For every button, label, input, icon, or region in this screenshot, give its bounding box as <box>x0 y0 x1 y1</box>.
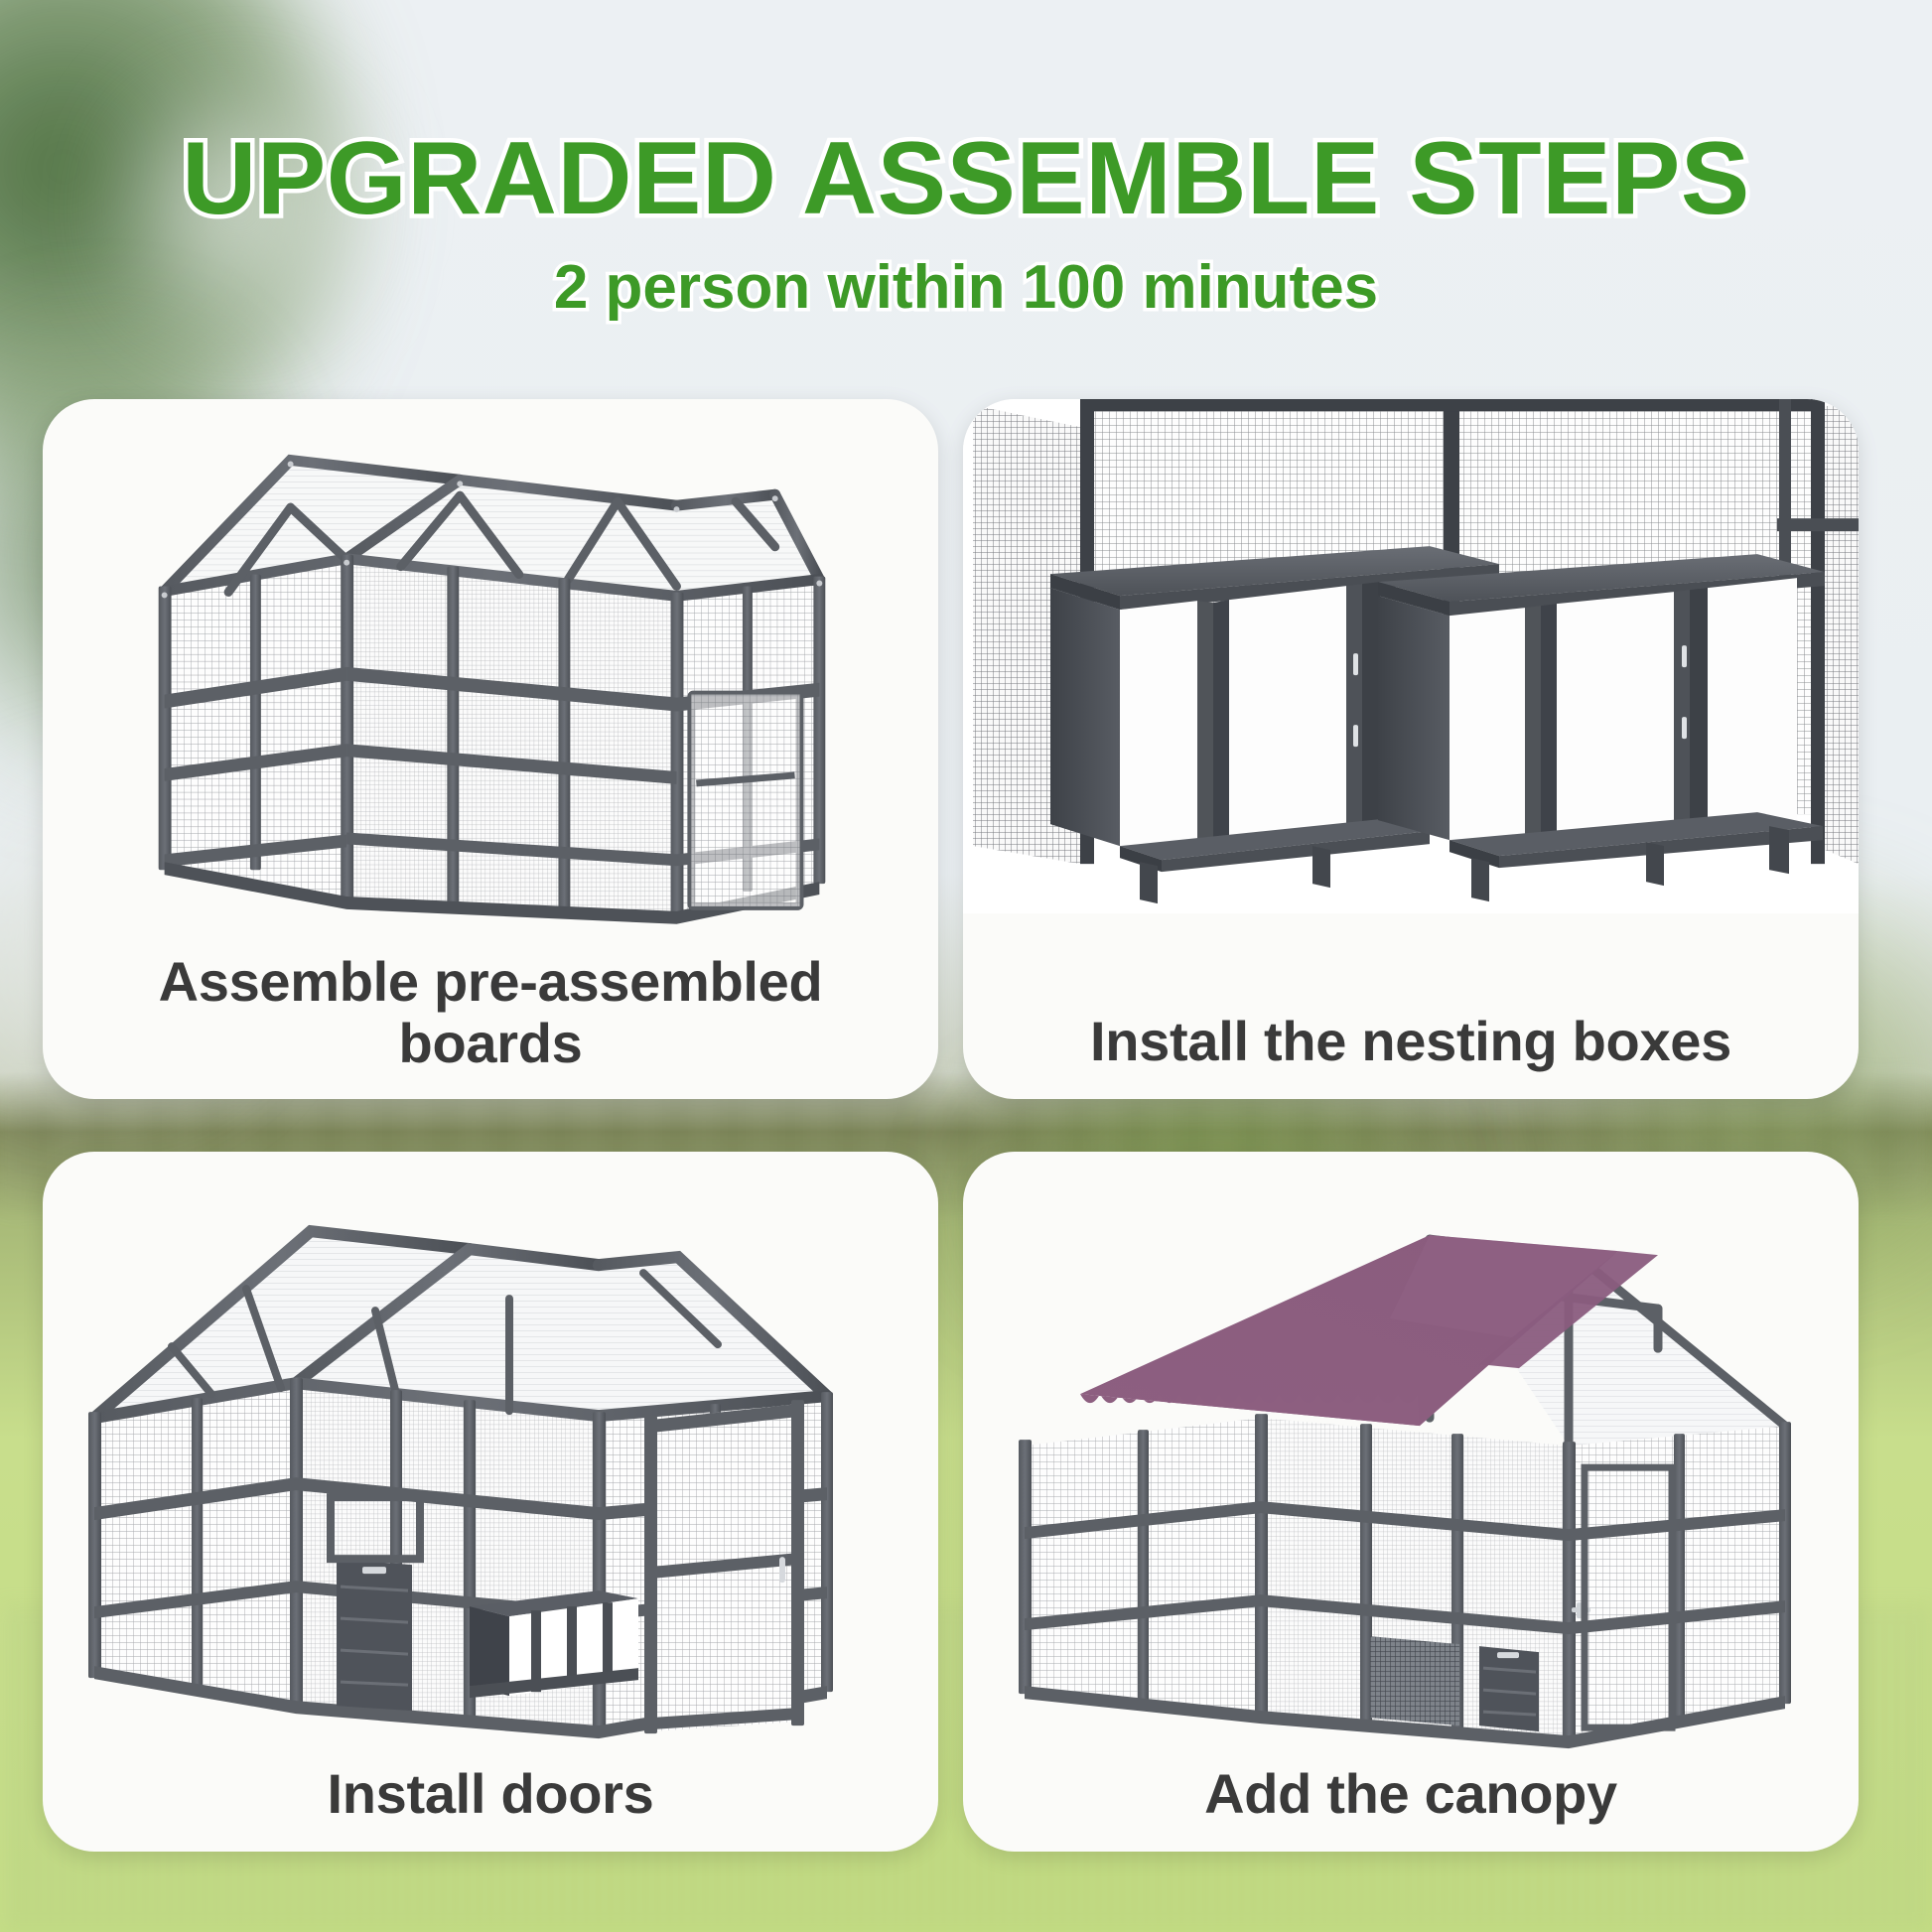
step-card-4[interactable]: Add the canopy <box>963 1152 1859 1852</box>
coop-front-door-4 <box>1479 1646 1539 1731</box>
coop-open-side-door <box>644 1400 804 1733</box>
inner-nesting-boxes <box>470 1590 638 1698</box>
step-4-caption: Add the canopy <box>963 1763 1859 1852</box>
step-3-caption: Install doors <box>43 1763 938 1852</box>
steps-grid: Assemble pre-assembled boards <box>43 399 1859 1852</box>
step-3-caption-line-1: Install doors <box>76 1763 904 1826</box>
step-1-caption-line-1: Assemble pre-assembled <box>76 951 904 1014</box>
step-2-caption-line-1: Install the nesting boxes <box>997 1011 1825 1073</box>
nesting-boxes-icon <box>963 399 1859 1011</box>
step-card-3[interactable]: Install doors <box>43 1152 938 1852</box>
page-subtitle: 2 person within 100 minutes <box>0 252 1932 323</box>
step-2-illustration <box>963 399 1859 1011</box>
step-1-caption: Assemble pre-assembled boards <box>43 951 938 1099</box>
header: UPGRADED ASSEMBLE STEPS 2 person within … <box>0 127 1932 323</box>
coop-front-door <box>337 1559 412 1711</box>
step-1-illustration <box>43 399 938 951</box>
coop-with-canopy-icon <box>963 1152 1859 1763</box>
step-3-illustration <box>43 1152 938 1763</box>
step-4-illustration <box>963 1152 1859 1763</box>
chicken-coop-frame-icon <box>43 399 938 951</box>
step-4-caption-line-1: Add the canopy <box>997 1763 1825 1826</box>
step-2-caption: Install the nesting boxes <box>963 1011 1859 1099</box>
page-title: UPGRADED ASSEMBLE STEPS <box>0 127 1932 230</box>
step-card-2[interactable]: Install the nesting boxes <box>963 399 1859 1099</box>
step-card-1[interactable]: Assemble pre-assembled boards <box>43 399 938 1099</box>
coop-with-doors-icon <box>43 1152 938 1763</box>
step-1-caption-line-2: boards <box>76 1013 904 1075</box>
